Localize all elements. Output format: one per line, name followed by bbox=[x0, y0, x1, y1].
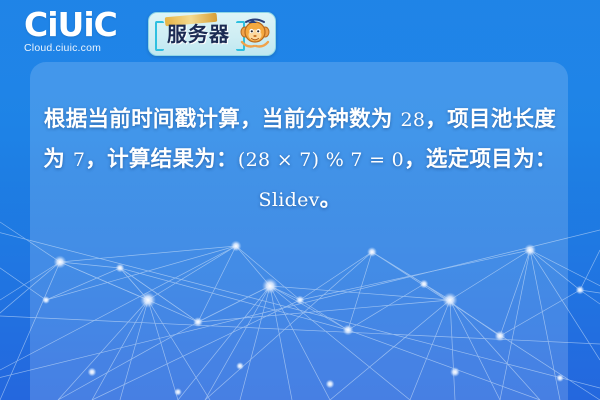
logo-domain: Cloud.ciuic.com bbox=[24, 42, 142, 54]
calculation-expression: (28 × 7) % 7 = 0 bbox=[238, 149, 404, 171]
pool-length-value: 7 bbox=[73, 149, 85, 171]
brand-logo[interactable]: CiUiC Cloud.ciuic.com bbox=[24, 8, 142, 56]
logo-wordmark: CiUiC bbox=[24, 8, 142, 41]
selected-project-name: Slidev bbox=[259, 189, 320, 211]
badge-label: 服务器 bbox=[167, 21, 230, 47]
result-message: 根据当前时间戳计算，当前分钟数为 28，项目池长度为 7，计算结果为：(28 ×… bbox=[30, 100, 570, 220]
bracket-left-icon bbox=[155, 21, 164, 51]
monkey-mascot-icon bbox=[237, 16, 273, 52]
minutes-value: 28 bbox=[401, 109, 426, 131]
message-line1-suffix: ，项 bbox=[425, 107, 469, 132]
message-line1-prefix: 根据当前时间戳计算，当前分钟数为 bbox=[44, 107, 401, 132]
server-badge: 服务器 bbox=[148, 12, 276, 56]
message-line3-suffix: 。 bbox=[320, 187, 342, 212]
message-line3-prefix: 选定项目为： bbox=[426, 147, 557, 172]
screenshot-canvas: CiUiC Cloud.ciuic.com 服务器 bbox=[0, 0, 600, 400]
message-line2-mid: ，计算结果为： bbox=[85, 147, 238, 172]
header-bar: CiUiC Cloud.ciuic.com 服务器 bbox=[0, 0, 600, 62]
message-line2-suffix: ， bbox=[404, 147, 426, 172]
